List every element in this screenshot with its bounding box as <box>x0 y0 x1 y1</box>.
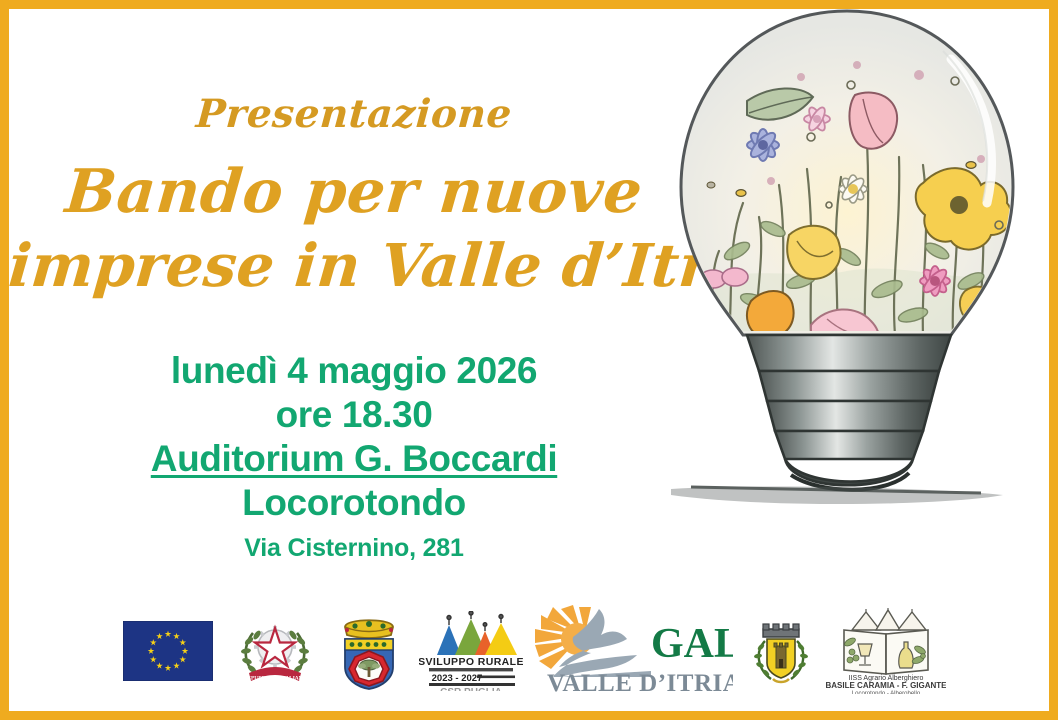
iiss-label-line-2: BASILE CARAMIA - F. GIGANTE <box>826 681 946 690</box>
event-date: lunedì 4 maggio 2026 <box>9 349 699 393</box>
poster-headline-line-2: imprese in Valle d’Itria <box>6 231 702 300</box>
event-address: Via Cisternino, 281 <box>9 525 699 571</box>
iiss-agrario-alberghiero-logo: IISS Agrario Alberghiero BASILE CARAMIA … <box>823 608 949 694</box>
gal-label-line-1: GAL <box>651 621 733 667</box>
event-town: Locorotondo <box>9 481 699 525</box>
event-time: ore 18.30 <box>9 393 699 437</box>
gal-valle-ditria-logo: GAL VALLE D’ITRIA <box>527 605 739 697</box>
csr-label-line-2: 2023 - 2027 <box>432 673 483 684</box>
repubblica-italiana-ribbon-label: REPUBBLICA ITALIANA <box>244 676 307 682</box>
csr-label-line-3: CSR PUGLIA <box>440 687 502 691</box>
regione-puglia-coat-of-arms-logo <box>323 609 415 693</box>
poster-kicker: Presentazione <box>7 91 700 137</box>
lightbulb-with-wildflowers-illustration <box>651 0 1041 589</box>
poster-canvas: Presentazione Bando per nuove imprese in… <box>0 0 1058 720</box>
iiss-label-line-3: Locorotondo - Alberobello <box>852 691 921 694</box>
poster-headline-line-1: Bando per nuove <box>6 157 702 227</box>
event-details: lunedì 4 maggio 2026 ore 18.30 Auditoriu… <box>9 349 699 571</box>
comune-di-locorotondo-coat-of-arms-logo <box>739 615 823 687</box>
poster-text-block: Presentazione Bando per nuove imprese in… <box>9 9 699 609</box>
csr-label-line-1: SVILUPPO RURALE <box>419 656 523 668</box>
repubblica-italiana-emblem-logo: REPUBBLICA ITALIANA <box>227 615 323 687</box>
gal-label-line-2: VALLE D’ITRIA <box>547 670 733 697</box>
event-venue: Auditorium G. Boccardi <box>9 437 699 481</box>
sviluppo-rurale-csr-puglia-logo: SVILUPPO RURALE 2023 - 2027 CSR PUGLIA <box>415 611 527 691</box>
european-union-flag-logo <box>109 621 227 681</box>
partner-logo-row: REPUBBLICA ITALIANA <box>9 599 1049 703</box>
